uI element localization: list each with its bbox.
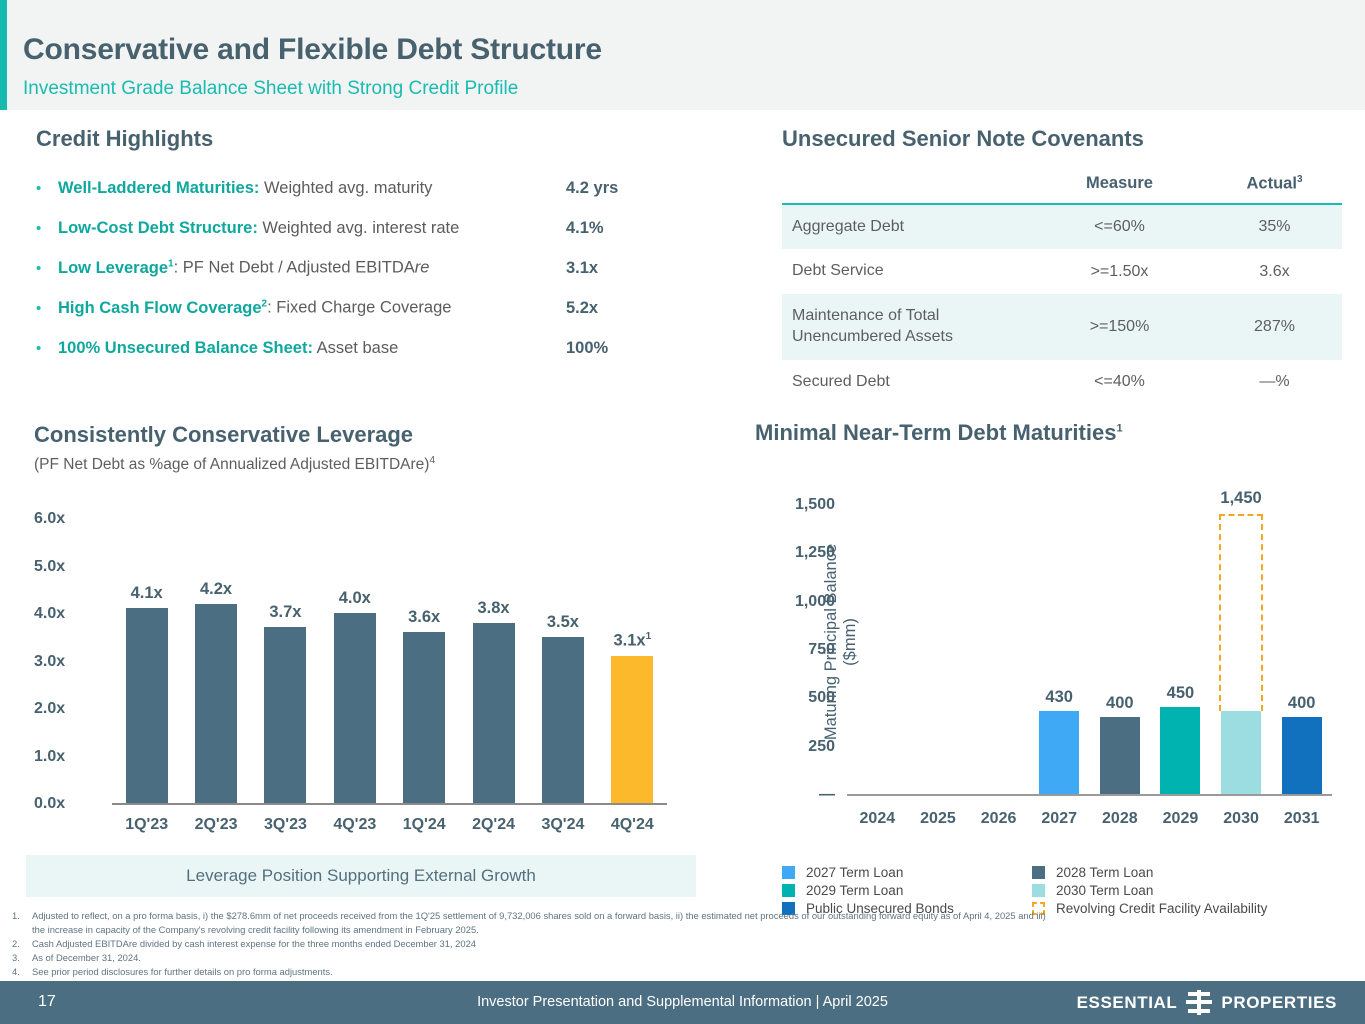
bullet-icon: •	[36, 300, 58, 317]
table-row: Debt Service>=1.50x3.6x	[782, 249, 1342, 294]
bullet-icon: •	[36, 340, 58, 357]
leverage-bar-group: 4.1x4.2x3.7x4.0x3.6x3.8x3.5x3.1x1	[112, 518, 667, 803]
leverage-bar-column: 3.6x	[390, 518, 459, 803]
covenant-name: Maintenance of Total Unencumbered Assets	[782, 294, 1032, 360]
leverage-bar-value-label: 4.1x	[131, 584, 163, 603]
footnote-text: As of December 31, 2024.	[32, 951, 1308, 965]
legend-item: 2027 Term Loan	[782, 864, 1032, 880]
page-title: Conservative and Flexible Debt Structure	[23, 33, 602, 67]
bullet-icon: •	[36, 180, 58, 197]
footnote-item: 2.Cash Adjusted EBITDAre divided by cash…	[8, 937, 1308, 951]
maturities-x-tick-label: 2031	[1271, 810, 1332, 828]
leverage-bar-value-label: 4.2x	[200, 580, 232, 599]
maturities-bar	[1221, 711, 1261, 794]
footnote-number: 1.	[8, 909, 32, 923]
leverage-bar	[264, 627, 306, 803]
leverage-y-tick: 6.0x	[34, 510, 96, 528]
maturities-y-tick: —	[765, 786, 835, 804]
leverage-y-tick: 3.0x	[34, 653, 96, 671]
leverage-chart-section: Consistently Conservative Leverage (PF N…	[34, 422, 714, 840]
leverage-x-tick-label: 3Q'24	[528, 816, 597, 834]
legend-item: 2029 Term Loan	[782, 882, 1032, 898]
leverage-bar-value-label: 4.0x	[339, 589, 371, 608]
table-row: Aggregate Debt<=60%35%	[782, 204, 1342, 250]
credit-highlights-section: Credit Highlights •Well-Laddered Maturit…	[36, 126, 676, 368]
leverage-x-tick-label: 4Q'23	[320, 816, 389, 834]
leverage-bar-value-label: 3.8x	[478, 599, 510, 618]
leverage-y-tick: 1.0x	[34, 748, 96, 766]
column-header-actual: Actual3	[1207, 174, 1342, 204]
maturities-bar-column	[908, 504, 969, 794]
covenant-actual: 287%	[1207, 294, 1342, 360]
credit-highlight-item: •High Cash Flow Coverage2: Fixed Charge …	[36, 288, 676, 328]
covenant-name: Aggregate Debt	[782, 204, 1032, 250]
footnote-text: See prior period disclosures for further…	[32, 965, 1308, 979]
legend-swatch-icon	[1032, 884, 1045, 897]
maturities-y-tick: 250	[765, 738, 835, 756]
revolver-availability-label: 1,450	[1220, 489, 1261, 508]
table-header-row: Measure Actual3	[782, 174, 1342, 204]
leverage-x-tick-labels: 1Q'232Q'233Q'234Q'231Q'242Q'243Q'244Q'24	[112, 816, 667, 834]
maturities-x-tick-label: 2030	[1211, 810, 1272, 828]
covenant-measure: <=40%	[1032, 360, 1207, 405]
leverage-x-tick-label: 2Q'24	[459, 816, 528, 834]
covenants-title: Unsecured Senior Note Covenants	[782, 126, 1342, 152]
leverage-bar-column: 3.7x	[251, 518, 320, 803]
leverage-bar	[126, 608, 168, 803]
maturities-y-tick: 500	[765, 689, 835, 707]
table-row: Secured Debt<=40%—%	[782, 360, 1342, 405]
legend-label: 2027 Term Loan	[806, 865, 903, 880]
leverage-bar	[195, 604, 237, 804]
maturities-chart-section: Minimal Near-Term Debt Maturities1 Matur…	[755, 420, 1345, 848]
covenants-table: Measure Actual3 Aggregate Debt<=60%35%De…	[782, 174, 1342, 404]
maturities-bar-column: 430	[1029, 504, 1090, 794]
footnote-item: 3.As of December 31, 2024.	[8, 951, 1308, 965]
column-header-name	[782, 174, 1032, 204]
credit-highlight-value: 5.2x	[566, 299, 598, 318]
leverage-x-tick-label: 2Q'23	[181, 816, 250, 834]
logo-text-properties: PROPERTIES	[1221, 993, 1337, 1013]
footnote-text: Adjusted to reflect, on a pro forma basi…	[32, 909, 1308, 923]
covenant-measure: >=150%	[1032, 294, 1207, 360]
covenants-section: Unsecured Senior Note Covenants Measure …	[782, 126, 1342, 404]
maturities-bar	[1282, 717, 1322, 794]
leverage-bar	[403, 632, 445, 803]
legend-swatch-icon	[1032, 866, 1045, 879]
credit-highlights-list: •Well-Laddered Maturities: Weighted avg.…	[36, 168, 676, 368]
leverage-bar-column: 3.8x	[459, 518, 528, 803]
leverage-x-tick-label: 4Q'24	[598, 816, 667, 834]
credit-highlight-value: 100%	[566, 339, 608, 358]
logo-text-essential: ESSENTIAL	[1077, 993, 1178, 1013]
maturities-x-tick-label: 2027	[1029, 810, 1090, 828]
leverage-bar	[542, 637, 584, 803]
credit-highlights-title: Credit Highlights	[36, 126, 676, 152]
footnote-text: Cash Adjusted EBITDAre divided by cash i…	[32, 937, 1308, 951]
maturities-bar-group: 4304004501,450400	[847, 504, 1332, 794]
maturities-bar	[1100, 717, 1140, 794]
maturities-bar-value-label: 450	[1167, 684, 1195, 703]
maturities-x-tick-label: 2026	[968, 810, 1029, 828]
leverage-x-tick-label: 1Q'24	[390, 816, 459, 834]
maturities-bar	[1160, 707, 1200, 794]
covenant-actual: 3.6x	[1207, 249, 1342, 294]
maturities-x-axis-line	[847, 794, 1332, 796]
maturities-bar-value-label: 430	[1045, 688, 1073, 707]
maturities-bar-column: 400	[1090, 504, 1151, 794]
leverage-bar	[611, 656, 653, 803]
maturities-y-tick: 750	[765, 641, 835, 659]
bullet-icon: •	[36, 260, 58, 277]
revolver-availability-outline	[1219, 514, 1263, 711]
page-subtitle: Investment Grade Balance Sheet with Stro…	[23, 78, 518, 100]
covenant-measure: >=1.50x	[1032, 249, 1207, 294]
maturities-y-tick: 1,250	[765, 544, 835, 562]
leverage-bar	[334, 613, 376, 803]
legend-label: 2029 Term Loan	[806, 883, 903, 898]
maturities-bar-value-label: 400	[1106, 694, 1134, 713]
logo-mark-icon	[1186, 990, 1212, 1015]
footnote-item: 4.See prior period disclosures for furth…	[8, 965, 1308, 979]
covenant-actual: 35%	[1207, 204, 1342, 250]
credit-highlight-item: •100% Unsecured Balance Sheet: Asset bas…	[36, 328, 676, 368]
maturities-bar-column	[968, 504, 1029, 794]
covenant-measure: <=60%	[1032, 204, 1207, 250]
leverage-bar	[473, 623, 515, 804]
legend-swatch-icon	[782, 866, 795, 879]
leverage-x-tick-label: 3Q'23	[251, 816, 320, 834]
legend-label: 2028 Term Loan	[1056, 865, 1153, 880]
maturities-bar-column: 450	[1150, 504, 1211, 794]
leverage-bar-column: 4.2x	[181, 518, 250, 803]
legend-item: 2030 Term Loan	[1032, 882, 1282, 898]
footnotes-block: 1.Adjusted to reflect, on a pro forma ba…	[8, 909, 1308, 979]
leverage-bar-column: 4.1x	[112, 518, 181, 803]
leverage-chart-title: Consistently Conservative Leverage	[34, 422, 714, 448]
maturities-plot-area: Maturing Principal Balance ($mm) —250500…	[755, 488, 1345, 848]
leverage-bar-column: 3.5x	[528, 518, 597, 803]
maturities-x-tick-label: 2025	[908, 810, 969, 828]
leverage-y-tick: 5.0x	[34, 558, 96, 576]
maturities-x-tick-label: 2029	[1150, 810, 1211, 828]
maturities-x-tick-label: 2028	[1090, 810, 1151, 828]
header-accent-bar	[0, 0, 7, 110]
legend-item: 2028 Term Loan	[1032, 864, 1282, 880]
leverage-plot-area: 0.0x1.0x2.0x3.0x4.0x5.0x6.0x 4.1x4.2x3.7…	[34, 488, 679, 840]
maturities-bar	[1039, 711, 1079, 794]
maturities-chart-title: Minimal Near-Term Debt Maturities1	[755, 420, 1345, 446]
credit-highlight-item: •Low-Cost Debt Structure: Weighted avg. …	[36, 208, 676, 248]
maturities-bar-value-label: 400	[1288, 694, 1316, 713]
leverage-y-tick: 2.0x	[34, 700, 96, 718]
credit-highlight-value: 4.1%	[566, 219, 604, 238]
footnote-number: 2.	[8, 937, 32, 951]
credit-highlight-value: 3.1x	[566, 259, 598, 278]
leverage-bar-value-label: 3.5x	[547, 613, 579, 632]
maturities-y-tick: 1,500	[765, 496, 835, 514]
credit-highlight-item: •Well-Laddered Maturities: Weighted avg.…	[36, 168, 676, 208]
leverage-bar-value-label: 3.7x	[269, 603, 301, 622]
leverage-x-tick-label: 1Q'23	[112, 816, 181, 834]
leverage-callout-banner: Leverage Position Supporting External Gr…	[26, 855, 696, 897]
leverage-x-axis-line	[112, 803, 667, 805]
footnote-number: 4.	[8, 965, 32, 979]
footnote-item: 1.Adjusted to reflect, on a pro forma ba…	[8, 909, 1308, 923]
table-row: Maintenance of Total Unencumbered Assets…	[782, 294, 1342, 360]
leverage-y-tick: 0.0x	[34, 795, 96, 813]
footnote-number: 3.	[8, 951, 32, 965]
leverage-chart-subtitle: (PF Net Debt as %age of Annualized Adjus…	[34, 455, 714, 474]
credit-highlight-item: •Low Leverage1: PF Net Debt / Adjusted E…	[36, 248, 676, 288]
maturities-x-tick-labels: 20242025202620272028202920302031	[847, 810, 1332, 828]
maturities-bar-column	[847, 504, 908, 794]
covenant-name: Secured Debt	[782, 360, 1032, 405]
legend-swatch-icon	[782, 884, 795, 897]
leverage-bar-value-label: 3.1x1	[613, 631, 651, 651]
maturities-y-tick: 1,000	[765, 593, 835, 611]
leverage-bar-column: 4.0x	[320, 518, 389, 803]
maturities-x-tick-label: 2024	[847, 810, 908, 828]
bullet-icon: •	[36, 220, 58, 237]
covenant-actual: —%	[1207, 360, 1342, 405]
credit-highlight-value: 4.2 yrs	[566, 179, 618, 198]
column-header-measure: Measure	[1032, 174, 1207, 204]
legend-label: 2030 Term Loan	[1056, 883, 1153, 898]
leverage-bar-column: 3.1x1	[598, 518, 667, 803]
slide-footer: 17 Investor Presentation and Supplementa…	[0, 981, 1365, 1024]
leverage-bar-value-label: 3.6x	[408, 608, 440, 627]
maturities-bar-column: 1,450	[1211, 504, 1272, 794]
covenant-name: Debt Service	[782, 249, 1032, 294]
company-logo: ESSENTIAL PROPERTIES	[1077, 989, 1337, 1016]
maturities-bar-column: 400	[1271, 504, 1332, 794]
leverage-y-tick: 4.0x	[34, 605, 96, 623]
footnote-continuation: the increase in capacity of the Company'…	[8, 923, 1308, 937]
